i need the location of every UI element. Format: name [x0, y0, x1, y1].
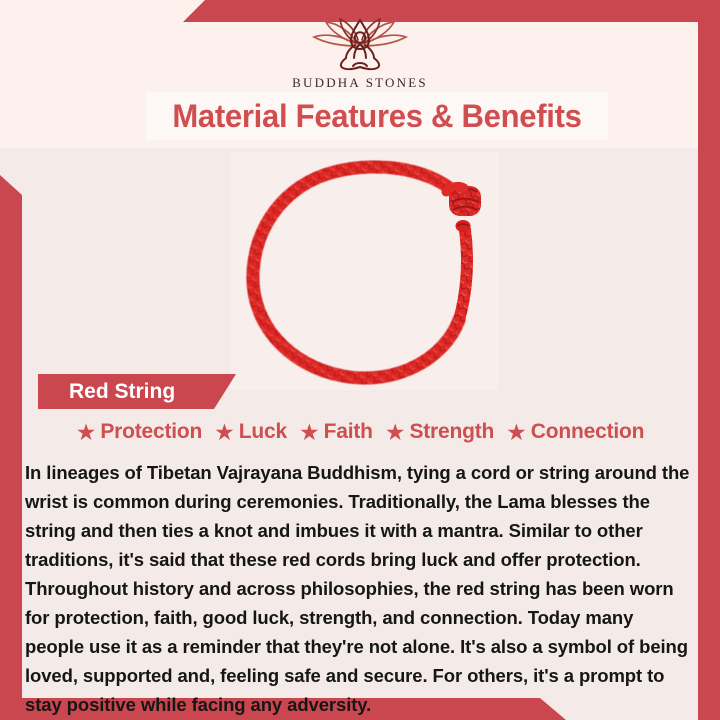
feature-label: Luck — [239, 420, 287, 444]
star-icon: ★ — [214, 421, 235, 444]
feature-item-faith: ★ Faith — [299, 420, 373, 444]
page-title: Material Features & Benefits — [172, 98, 581, 135]
product-label-banner: Red String — [38, 374, 236, 409]
feature-item-protection: ★ Protection — [76, 420, 202, 444]
poster-root: BUDDHA STONES Material Features & Benefi… — [0, 0, 720, 720]
frame-bar-right — [698, 0, 720, 720]
description-text: In lineages of Tibetan Vajrayana Buddhis… — [25, 458, 695, 719]
feature-item-strength: ★ Strength — [385, 420, 494, 444]
star-icon: ★ — [506, 421, 527, 444]
feature-label: Faith — [324, 420, 373, 444]
brand-name: BUDDHA STONES — [0, 75, 720, 91]
feature-label: Strength — [409, 420, 494, 444]
star-icon: ★ — [299, 421, 320, 444]
product-label: Red String — [38, 380, 175, 404]
feature-label: Protection — [100, 420, 202, 444]
feature-item-luck: ★ Luck — [214, 420, 287, 444]
title-band: Material Features & Benefits — [146, 92, 608, 140]
feature-label: Connection — [531, 420, 645, 444]
feature-list: ★ Protection ★ Luck ★ Faith ★ Strength ★… — [22, 420, 698, 444]
star-icon: ★ — [76, 421, 97, 444]
brand-logo: BUDDHA STONES — [0, 16, 720, 91]
red-string-bracelet-illustration — [231, 152, 499, 390]
product-image — [231, 152, 499, 390]
frame-bar-left — [0, 175, 22, 720]
feature-item-connection: ★ Connection — [506, 420, 644, 444]
star-icon: ★ — [385, 421, 406, 444]
lotus-meditation-icon — [301, 16, 419, 72]
